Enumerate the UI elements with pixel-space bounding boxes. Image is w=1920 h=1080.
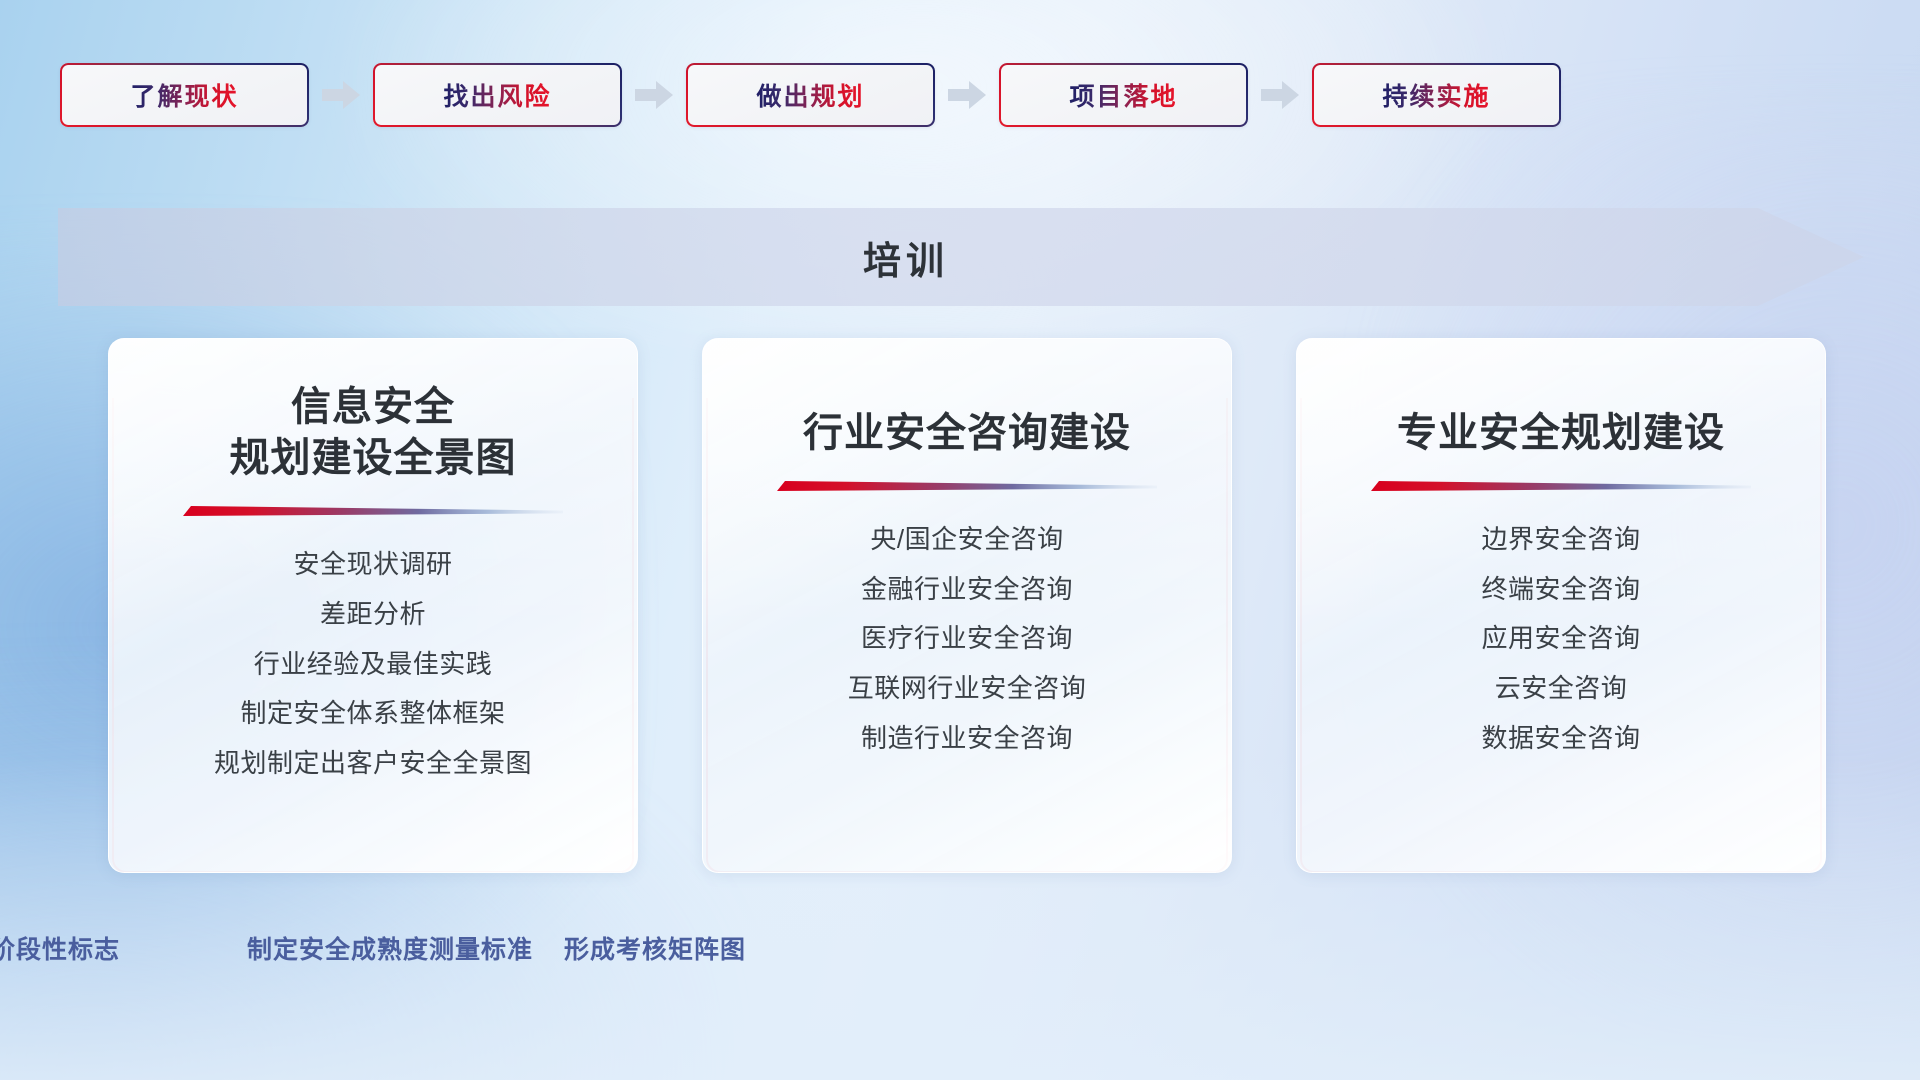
- chevron-right-icon: [322, 81, 360, 109]
- process-step-4[interactable]: 项目落地: [999, 63, 1248, 127]
- list-item: 金融行业安全咨询: [861, 569, 1073, 611]
- list-item: 数据安全咨询: [1481, 718, 1640, 760]
- chevron-right-icon: [635, 81, 673, 109]
- card-industry-security-consulting[interactable]: 行业安全咨询建设: [702, 338, 1232, 873]
- card-item-list: 安全现状调研 差距分析 行业经验及最佳实践 制定安全体系整体框架 规划制定出客户…: [108, 544, 638, 784]
- footer-label-matrix: 形成考核矩阵图: [564, 930, 746, 966]
- list-item: 终端安全咨询: [1481, 569, 1640, 611]
- card-professional-security-planning[interactable]: 专业安全规划建设: [1296, 338, 1826, 873]
- list-item: 规划制定出客户安全全景图: [214, 743, 532, 785]
- list-item: 安全现状调研: [293, 544, 452, 586]
- process-step-3[interactable]: 做出规划: [686, 63, 935, 127]
- footer-label-milestone: 确立阶段性标志: [0, 930, 120, 966]
- card-title: 专业安全规划建设: [1397, 408, 1725, 459]
- footer-label-maturity: 制定安全成熟度测量标准: [247, 930, 533, 966]
- list-item: 医疗行业安全咨询: [861, 618, 1073, 660]
- card-information-security-blueprint[interactable]: 信息安全 规划建设全景图: [108, 338, 638, 873]
- chevron-right-icon: [948, 81, 986, 109]
- process-step-label: 了解现状: [130, 77, 238, 113]
- chevron-right-icon: [1261, 81, 1299, 109]
- slide-content: 了解现状 找出风险 做出规划 项目落地 持续实施: [0, 0, 1920, 1080]
- card-divider: [777, 479, 1157, 495]
- list-item: 差距分析: [320, 594, 426, 636]
- card-item-list: 央/国企安全咨询 金融行业安全咨询 医疗行业安全咨询 互联网行业安全咨询 制造行…: [702, 519, 1232, 759]
- list-item: 行业经验及最佳实践: [254, 644, 493, 686]
- process-step-2[interactable]: 找出风险: [373, 63, 622, 127]
- list-item: 制造行业安全咨询: [861, 718, 1073, 760]
- process-step-row: 了解现状 找出风险 做出规划 项目落地 持续实施: [60, 62, 1860, 128]
- list-item: 应用安全咨询: [1481, 618, 1640, 660]
- card-divider: [183, 504, 563, 520]
- process-step-5[interactable]: 持续实施: [1312, 63, 1561, 127]
- process-step-label: 持续实施: [1382, 77, 1490, 113]
- process-step-label: 做出规划: [756, 77, 864, 113]
- footer-label-row: 基于事实路线图 确立阶段性标志 制定安全成熟度测量标准 形成考核矩阵图: [0, 930, 1160, 974]
- list-item: 制定安全体系整体框架: [240, 693, 505, 735]
- process-step-label: 项目落地: [1069, 77, 1177, 113]
- card-row: 信息安全 规划建设全景图: [108, 338, 1826, 873]
- process-step-1[interactable]: 了解现状: [60, 63, 309, 127]
- card-title: 行业安全咨询建设: [803, 408, 1131, 459]
- list-item: 央/国企安全咨询: [870, 519, 1063, 561]
- banner-label: 培训: [58, 208, 1864, 306]
- card-title: 信息安全 规划建设全景图: [230, 382, 517, 484]
- list-item: 云安全咨询: [1495, 668, 1628, 710]
- process-step-label: 找出风险: [443, 77, 551, 113]
- list-item: 边界安全咨询: [1481, 519, 1640, 561]
- list-item: 互联网行业安全咨询: [848, 668, 1087, 710]
- card-divider: [1371, 479, 1751, 495]
- card-item-list: 边界安全咨询 终端安全咨询 应用安全咨询 云安全咨询 数据安全咨询: [1296, 519, 1826, 759]
- training-banner: 培训: [58, 208, 1864, 306]
